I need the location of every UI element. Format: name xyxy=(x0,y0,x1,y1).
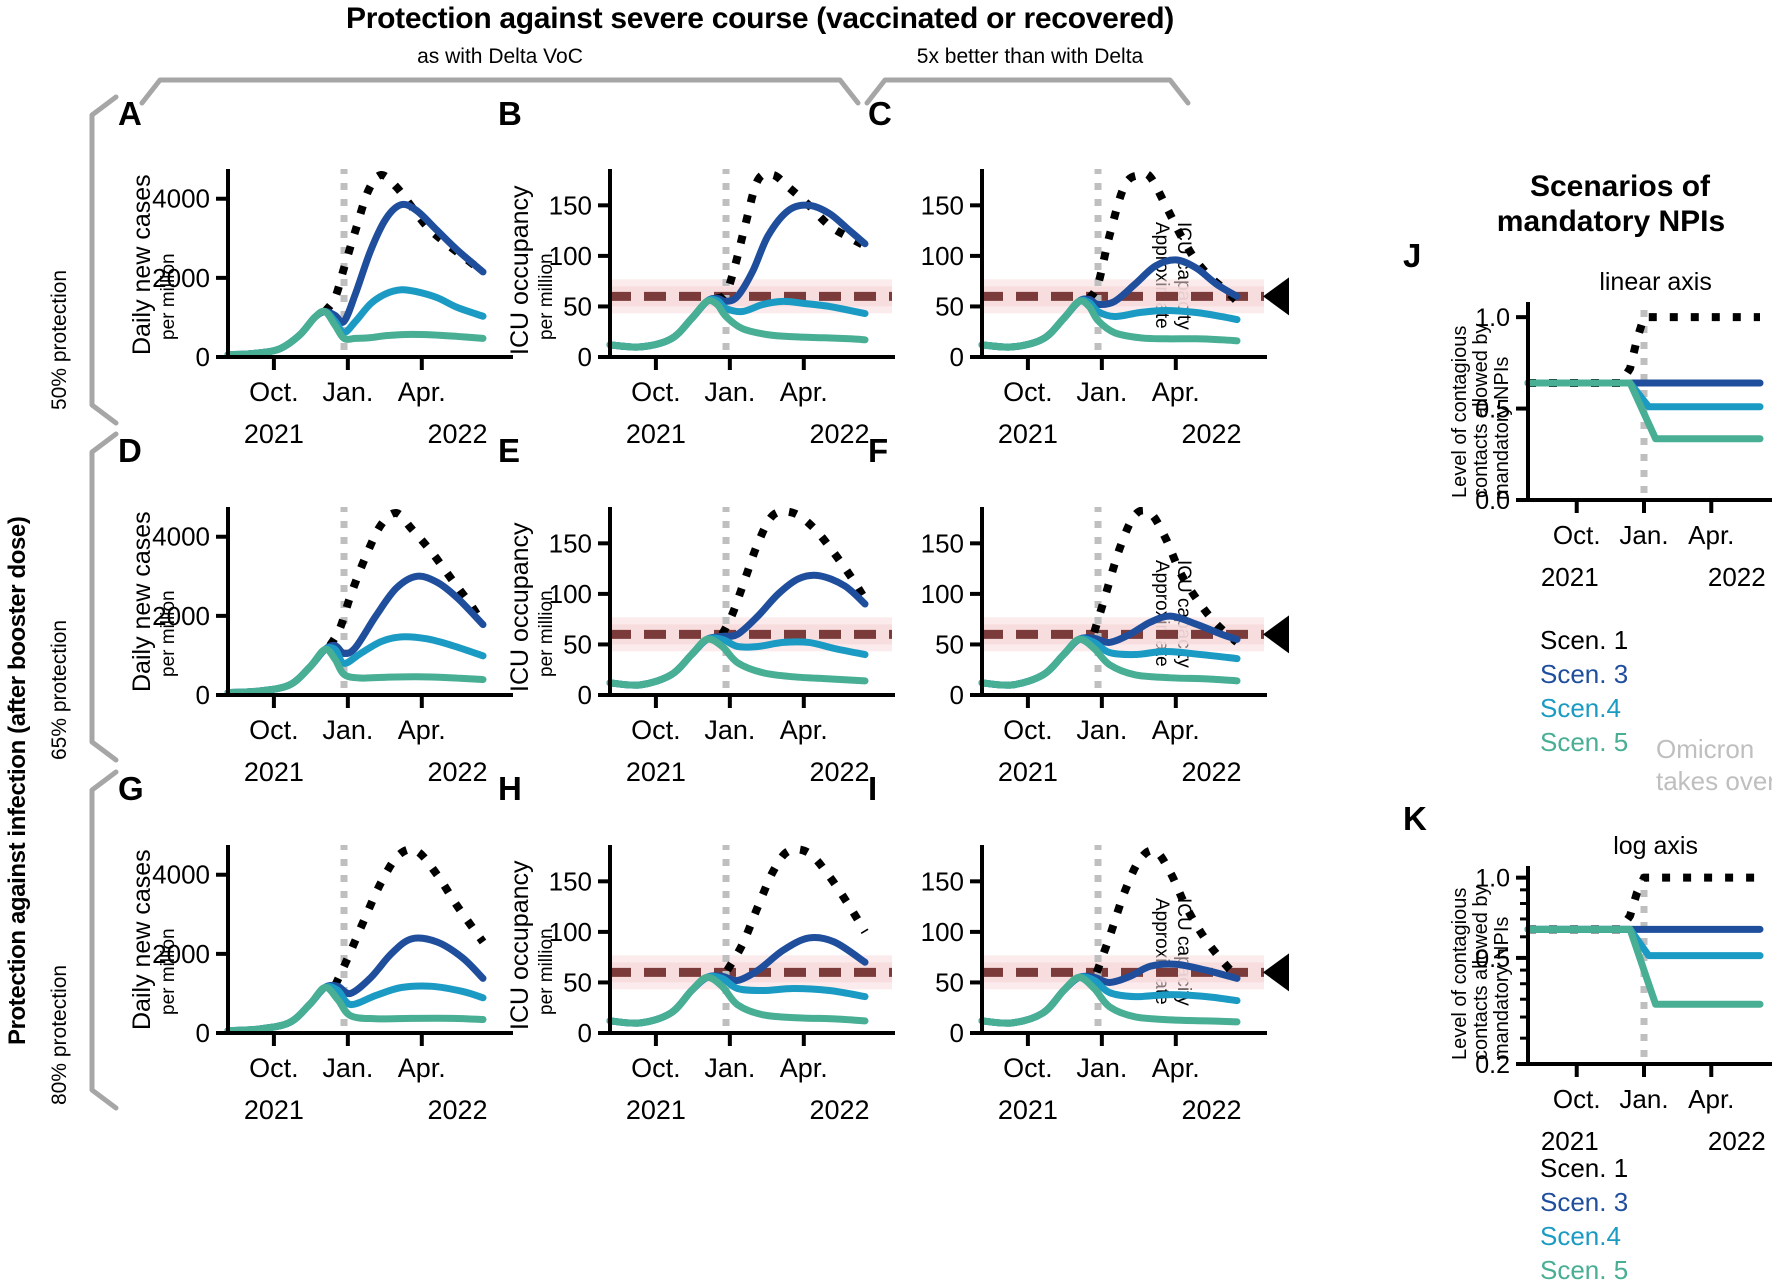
xtick-B-2: Apr. xyxy=(780,377,828,407)
year-label-I-1: 2022 xyxy=(1181,1095,1241,1125)
omicron-label-K-line1: Omicron xyxy=(1656,1275,1754,1280)
ytick-B-1: 50 xyxy=(563,291,592,321)
ytick-A-2: 4000 xyxy=(152,184,210,214)
ytick-A-0: 0 xyxy=(196,342,210,372)
ytick-I-1: 50 xyxy=(935,967,964,997)
year-label-E-0: 2021 xyxy=(626,757,686,787)
xtick-C-1: Jan. xyxy=(1076,377,1127,407)
xtick-K-1: Jan. xyxy=(1619,1084,1668,1114)
panel-J-axis-type-title: linear axis xyxy=(1599,268,1712,296)
ytick-G-2: 4000 xyxy=(152,860,210,890)
icu-capacity-arrow-I xyxy=(1263,953,1289,991)
year-label-H-1: 2022 xyxy=(809,1095,869,1125)
year-label-F-1: 2022 xyxy=(1181,757,1241,787)
xtick-B-1: Jan. xyxy=(704,377,755,407)
legend-item-K-2[interactable]: Scen.4 xyxy=(1540,1221,1621,1251)
ytick-H-3: 150 xyxy=(549,866,592,896)
xtick-G-1: Jan. xyxy=(322,1053,373,1083)
ytick-E-1: 50 xyxy=(563,629,592,659)
xtick-I-0: Oct. xyxy=(1003,1053,1053,1083)
year-label-J-0: 2021 xyxy=(1541,562,1599,592)
year-label-E-1: 2022 xyxy=(809,757,869,787)
year-label-H-0: 2021 xyxy=(626,1095,686,1125)
ytick-G-1: 2000 xyxy=(152,939,210,969)
year-label-K-1: 2022 xyxy=(1708,1126,1766,1156)
xtick-A-1: Jan. xyxy=(322,377,373,407)
ytick-F-2: 100 xyxy=(921,579,964,609)
plots-layer: 020004000Oct.Jan.Apr.20212022050100150Oc… xyxy=(0,0,1772,1280)
ytick-J-0: 0.0 xyxy=(1475,487,1510,515)
xtick-J-2: Apr. xyxy=(1688,520,1734,550)
ytick-F-3: 150 xyxy=(921,528,964,558)
ytick-B-3: 150 xyxy=(549,190,592,220)
legend-item-K-3[interactable]: Scen. 5 xyxy=(1540,1255,1628,1280)
legend-item-K-0[interactable]: Scen. 1 xyxy=(1540,1153,1628,1183)
ytick-D-1: 2000 xyxy=(152,601,210,631)
xtick-E-0: Oct. xyxy=(631,715,681,745)
ytick-K-0: 0.2 xyxy=(1475,1051,1510,1079)
xtick-F-0: Oct. xyxy=(1003,715,1053,745)
legend-item-J-1[interactable]: Scen. 3 xyxy=(1540,659,1628,689)
xtick-I-2: Apr. xyxy=(1152,1053,1200,1083)
ytick-C-2: 100 xyxy=(921,241,964,271)
year-label-B-0: 2021 xyxy=(626,419,686,449)
panel-K-axis-type-title: log axis xyxy=(1613,832,1698,860)
xtick-H-2: Apr. xyxy=(780,1053,828,1083)
ytick-F-0: 0 xyxy=(950,680,964,710)
panel-J-plot: 0.00.51.0Oct.Jan.Apr.20212022linear axis… xyxy=(1458,283,1772,703)
xtick-D-1: Jan. xyxy=(322,715,373,745)
ytick-H-2: 100 xyxy=(549,917,592,947)
year-label-G-1: 2022 xyxy=(427,1095,487,1125)
ytick-I-2: 100 xyxy=(921,917,964,947)
xtick-J-0: Oct. xyxy=(1553,520,1601,550)
ytick-I-3: 150 xyxy=(921,866,964,896)
series-Scen1-H xyxy=(727,849,865,970)
ytick-J-2: 1.0 xyxy=(1475,304,1510,332)
panel-I-plot: 050100150Oct.Jan.Apr.20212022 xyxy=(912,826,1432,1246)
xtick-G-2: Apr. xyxy=(398,1053,446,1083)
xtick-D-0: Oct. xyxy=(249,715,299,745)
ytick-I-0: 0 xyxy=(950,1018,964,1048)
xtick-H-0: Oct. xyxy=(631,1053,681,1083)
ytick-F-1: 50 xyxy=(935,629,964,659)
ytick-H-1: 50 xyxy=(563,967,592,997)
legend-item-J-0[interactable]: Scen. 1 xyxy=(1540,625,1628,655)
ytick-E-0: 0 xyxy=(578,680,592,710)
xtick-F-1: Jan. xyxy=(1076,715,1127,745)
year-label-D-1: 2022 xyxy=(427,757,487,787)
year-label-K-0: 2021 xyxy=(1541,1126,1599,1156)
xtick-E-1: Jan. xyxy=(704,715,755,745)
ytick-D-2: 4000 xyxy=(152,522,210,552)
ytick-J-1: 0.5 xyxy=(1475,396,1510,424)
year-label-A-0: 2021 xyxy=(244,419,304,449)
xtick-C-0: Oct. xyxy=(1003,377,1053,407)
icu-capacity-arrow-C xyxy=(1263,277,1289,315)
xtick-A-2: Apr. xyxy=(398,377,446,407)
xtick-A-0: Oct. xyxy=(249,377,299,407)
year-label-B-1: 2022 xyxy=(809,419,869,449)
year-label-D-0: 2021 xyxy=(244,757,304,787)
ytick-C-1: 50 xyxy=(935,291,964,321)
xtick-K-0: Oct. xyxy=(1553,1084,1601,1114)
ytick-E-2: 100 xyxy=(549,579,592,609)
year-label-A-1: 2022 xyxy=(427,419,487,449)
ytick-B-0: 0 xyxy=(578,342,592,372)
xtick-D-2: Apr. xyxy=(398,715,446,745)
ytick-E-3: 150 xyxy=(549,528,592,558)
xtick-I-1: Jan. xyxy=(1076,1053,1127,1083)
series-Scen1-G xyxy=(335,849,483,985)
ytick-B-2: 100 xyxy=(549,241,592,271)
series-Scen1-J xyxy=(1528,317,1760,383)
ytick-C-3: 150 xyxy=(921,190,964,220)
legend-item-K-1[interactable]: Scen. 3 xyxy=(1540,1187,1628,1217)
xtick-K-2: Apr. xyxy=(1688,1084,1734,1114)
legend-item-J-3[interactable]: Scen. 5 xyxy=(1540,727,1628,757)
legend-item-J-2[interactable]: Scen.4 xyxy=(1540,693,1621,723)
omicron-label-J-line1: Omicron xyxy=(1656,734,1754,764)
icu-capacity-arrow-F xyxy=(1263,615,1289,653)
year-label-G-0: 2021 xyxy=(244,1095,304,1125)
xtick-B-0: Oct. xyxy=(631,377,681,407)
year-label-J-1: 2022 xyxy=(1708,562,1766,592)
ytick-K-1: 0.5 xyxy=(1475,945,1510,973)
ytick-G-0: 0 xyxy=(196,1018,210,1048)
year-label-F-0: 2021 xyxy=(998,757,1058,787)
ytick-C-0: 0 xyxy=(950,342,964,372)
xtick-H-1: Jan. xyxy=(704,1053,755,1083)
ytick-A-1: 2000 xyxy=(152,263,210,293)
year-label-C-0: 2021 xyxy=(998,419,1058,449)
omicron-label-J-line2: takes over xyxy=(1656,766,1772,796)
xtick-J-1: Jan. xyxy=(1619,520,1668,550)
year-label-I-0: 2021 xyxy=(998,1095,1058,1125)
xtick-E-2: Apr. xyxy=(780,715,828,745)
series-Scen1-K xyxy=(1528,878,1760,930)
panel-K-plot: 0.20.51.0Oct.Jan.Apr.20212022log axisSce… xyxy=(1458,847,1772,1267)
ytick-H-0: 0 xyxy=(578,1018,592,1048)
ytick-D-0: 0 xyxy=(196,680,210,710)
series-Scen1-E xyxy=(722,511,865,634)
xtick-G-0: Oct. xyxy=(249,1053,299,1083)
xtick-C-2: Apr. xyxy=(1152,377,1200,407)
xtick-F-2: Apr. xyxy=(1152,715,1200,745)
ytick-K-2: 1.0 xyxy=(1475,865,1510,893)
year-label-C-1: 2022 xyxy=(1181,419,1241,449)
